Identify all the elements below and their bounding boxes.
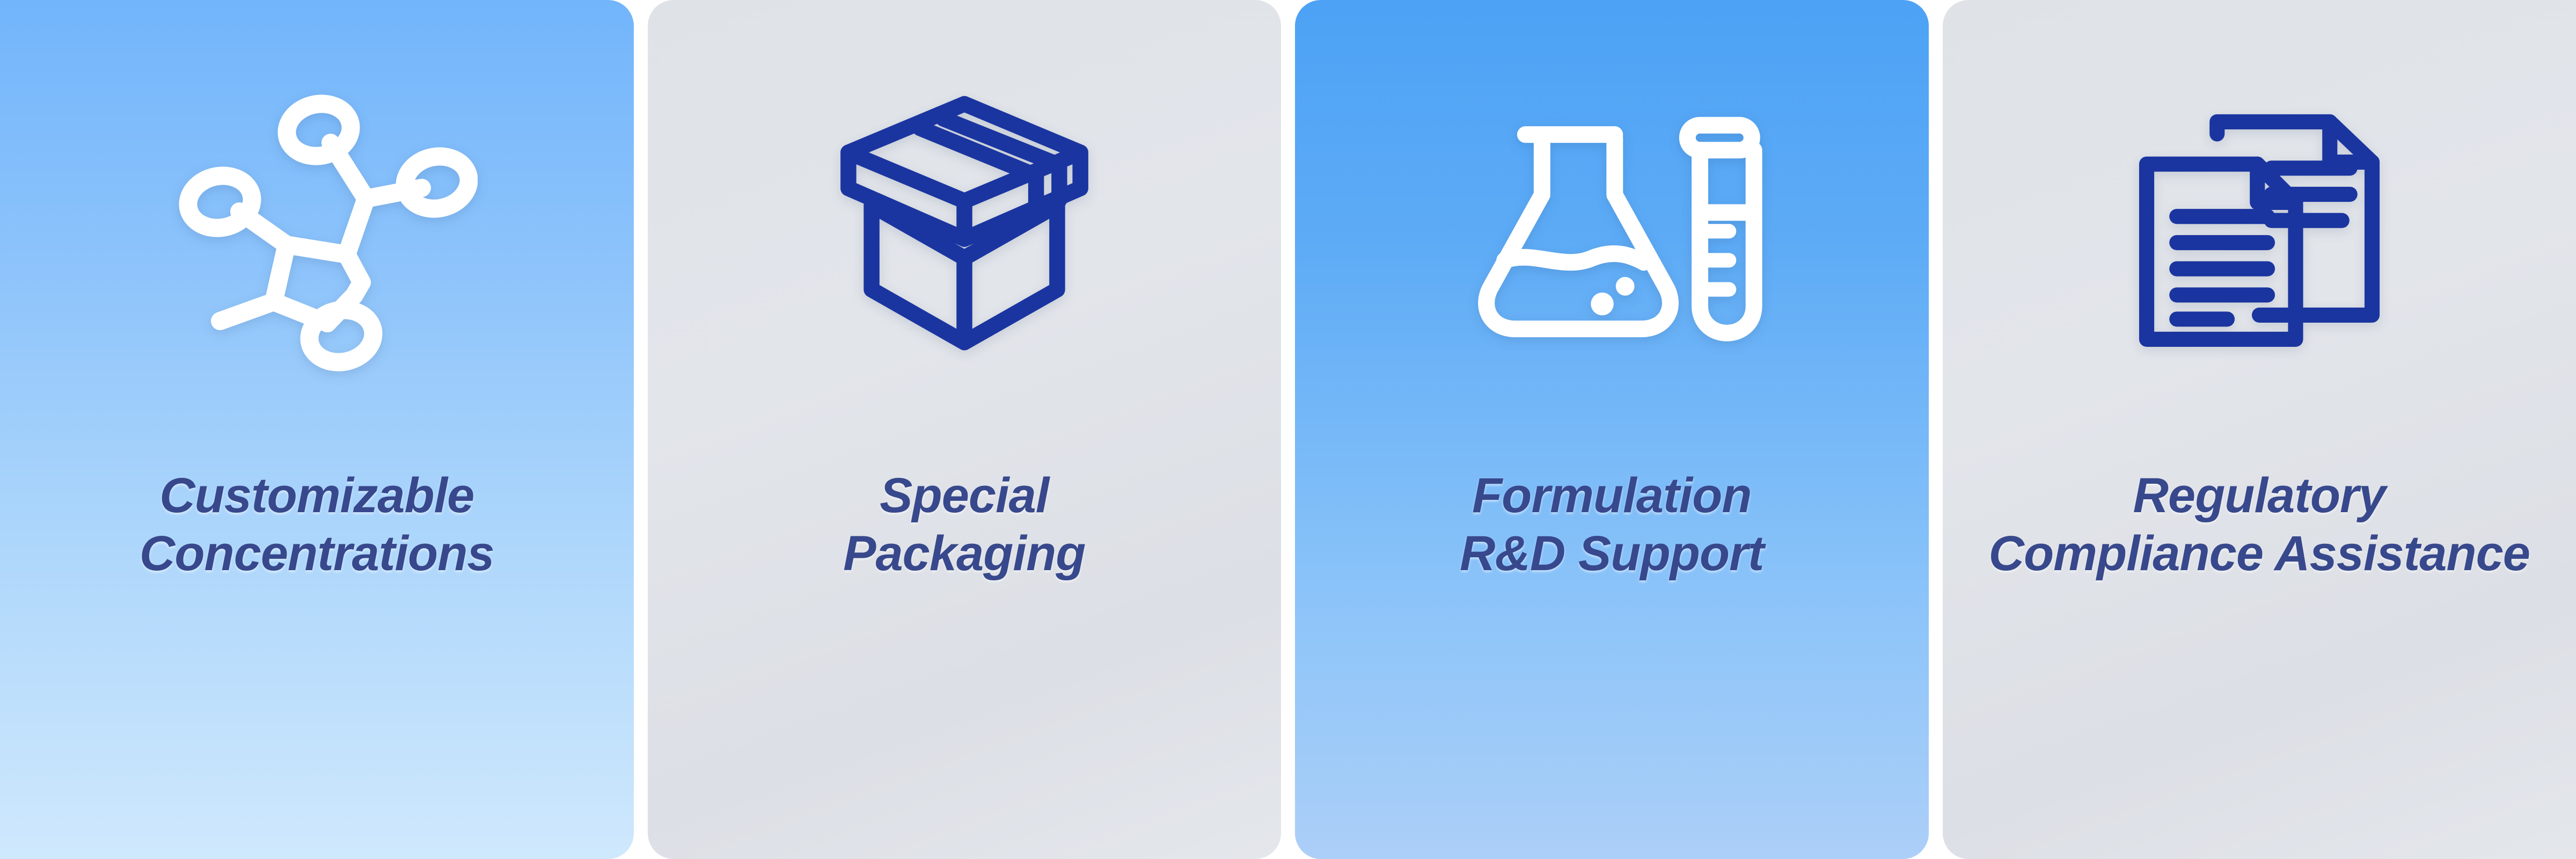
feature-card-label: Regulatory Compliance Assistance (1962, 467, 2557, 583)
documents-icon (1943, 21, 2576, 462)
molecule-icon (0, 21, 634, 462)
feature-card-label: Special Packaging (667, 467, 1262, 583)
flask-test-tube-icon (1295, 21, 1929, 462)
feature-card-row: Customizable Concentrations (0, 0, 2576, 859)
package-box-icon (648, 21, 1282, 462)
feature-card-customizable-concentrations[interactable]: Customizable Concentrations (0, 0, 634, 859)
feature-card-formulation-rd-support[interactable]: Formulation R&D Support (1295, 0, 1929, 859)
feature-card-special-packaging[interactable]: Special Packaging (648, 0, 1282, 859)
feature-card-label: Formulation R&D Support (1314, 467, 1909, 583)
feature-card-regulatory-compliance-assistance[interactable]: Regulatory Compliance Assistance (1943, 0, 2576, 859)
feature-card-label: Customizable Concentrations (19, 467, 614, 583)
